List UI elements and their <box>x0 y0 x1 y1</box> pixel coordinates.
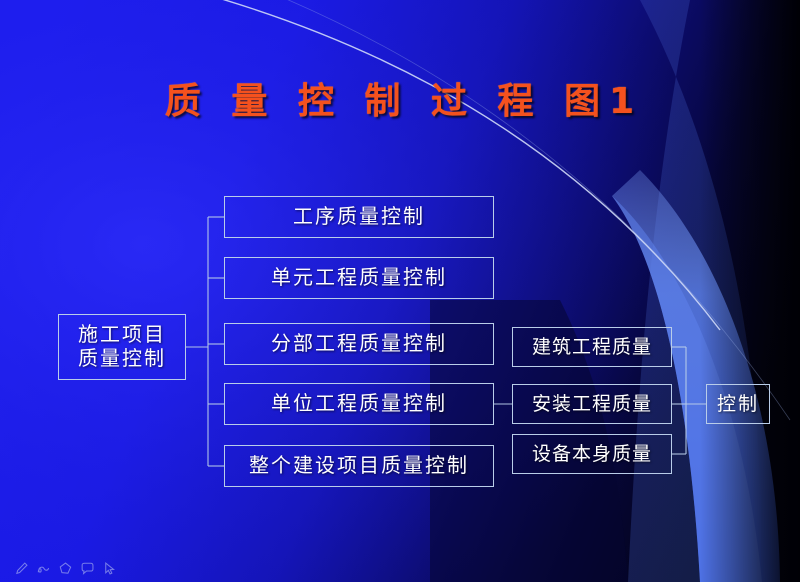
node-root[interactable]: 施工项目 质量控制 <box>58 314 186 380</box>
node-unit-project-quality-control[interactable]: 单位工程质量控制 <box>224 383 494 425</box>
presentation-slide: 质 量 控 制 过 程 图1 施工项目 质量控制 工序质量控制 单元工程质量控制 <box>0 0 800 582</box>
highlighter-icon[interactable] <box>58 561 73 576</box>
node-control[interactable]: 控制 <box>706 384 770 424</box>
node-installation-engineering-quality[interactable]: 安装工程质量 <box>512 384 672 424</box>
node-subdivisional-engineering-quality-control[interactable]: 分部工程质量控制 <box>224 323 494 365</box>
node-whole-construction-project-quality-control[interactable]: 整个建设项目质量控制 <box>224 445 494 487</box>
node-unit-engineering-quality-control[interactable]: 单元工程质量控制 <box>224 257 494 299</box>
ink-squiggle-icon[interactable] <box>36 561 51 576</box>
pen-icon[interactable] <box>14 561 29 576</box>
node-equipment-itself-quality[interactable]: 设备本身质量 <box>512 434 672 474</box>
speech-bubble-icon[interactable] <box>80 561 95 576</box>
pointer-arrow-icon[interactable] <box>102 561 117 576</box>
node-building-engineering-quality[interactable]: 建筑工程质量 <box>512 327 672 367</box>
presenter-toolbar[interactable] <box>14 561 117 576</box>
node-process-quality-control[interactable]: 工序质量控制 <box>224 196 494 238</box>
